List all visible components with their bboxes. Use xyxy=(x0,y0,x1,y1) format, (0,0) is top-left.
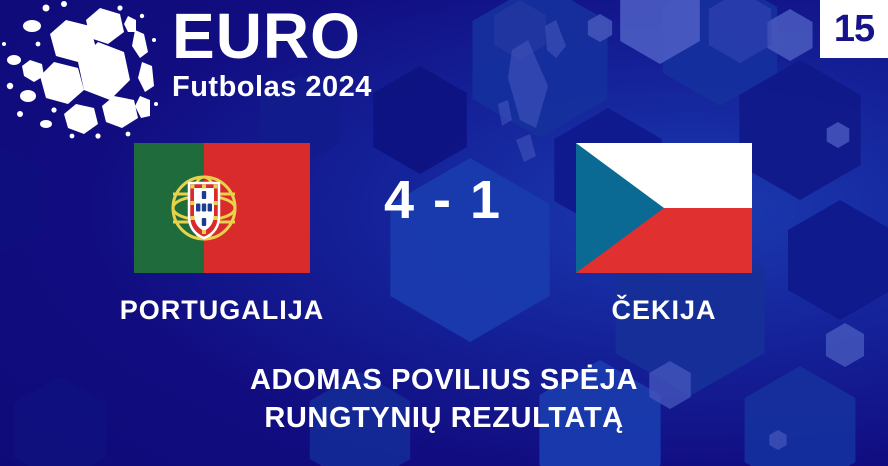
logo-title: EURO xyxy=(172,2,422,70)
flag-czech-republic-icon xyxy=(576,143,752,273)
number-badge-value: 15 xyxy=(834,10,874,48)
logo-wordmark: EURO Futbolas 2024 xyxy=(172,2,422,104)
number-badge: 15 xyxy=(820,0,888,58)
team-name-home: PORTUGALIJA xyxy=(72,294,372,326)
scoreline: 4 - 1 xyxy=(355,170,531,230)
match-result-graphic: EURO Futbolas 2024 15 xyxy=(0,0,888,466)
caption-line-2: RUNGTYNIŲ REZULTATĄ xyxy=(0,399,888,437)
team-name-away: ČEKIJA xyxy=(514,294,814,326)
football-hexagon-icon xyxy=(2,0,167,140)
caption: ADOMAS POVILIUS SPĖJA RUNGTYNIŲ REZULTAT… xyxy=(0,361,888,437)
caption-line-1: ADOMAS POVILIUS SPĖJA xyxy=(0,361,888,399)
flag-portugal-icon xyxy=(134,143,310,273)
logo-subtitle: Futbolas 2024 xyxy=(172,70,422,104)
